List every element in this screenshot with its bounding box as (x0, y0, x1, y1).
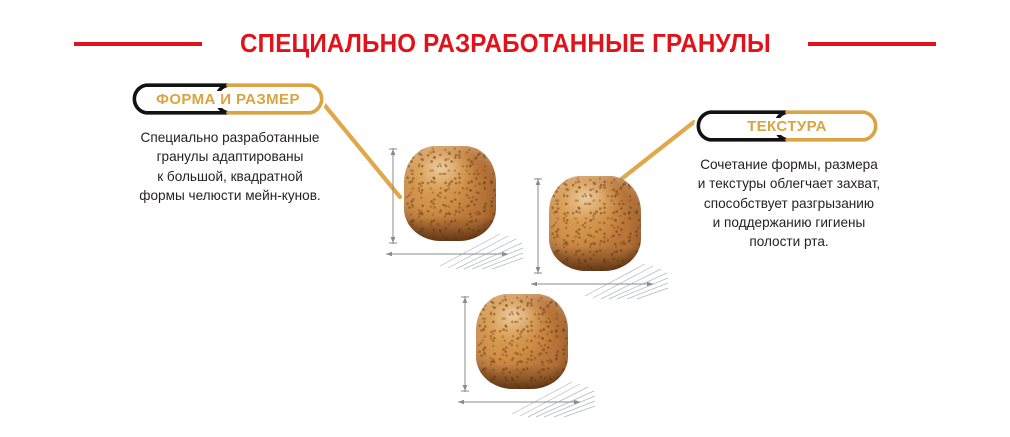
infographic-canvas: СПЕЦИАЛЬНО РАЗРАБОТАННЫЕ ГРАНУЛЫ ФОРМА И… (0, 0, 1010, 437)
kibble-texture-overlay-3 (476, 294, 568, 389)
page-title-row: СПЕЦИАЛЬНО РАЗРАБОТАННЫЕ ГРАНУЛЫ (0, 28, 1010, 59)
callout-badge-shape-size[interactable]: ФОРМА И РАЗМЕР (130, 83, 326, 115)
title-rule-left (74, 42, 202, 46)
callout-text-texture: Сочетание формы, размера и текстуры обле… (665, 155, 913, 251)
kibble-group-1 (380, 140, 530, 280)
callout-badge-label-texture: ТЕКСТУРА (740, 118, 834, 135)
page-title: СПЕЦИАЛЬНО РАЗРАБОТАННЫЕ ГРАНУЛЫ (240, 28, 771, 59)
kibble-texture-overlay-1 (404, 146, 496, 241)
callout-badge-texture[interactable]: ТЕКСТУРА (694, 110, 880, 142)
callout-text-shape-size: Специально разработанные гранулы адаптир… (108, 128, 352, 205)
callout-badge-label-shape-size: ФОРМА И РАЗМЕР (149, 91, 307, 108)
title-rule-right (808, 42, 936, 46)
kibble-photo-1 (404, 146, 496, 241)
kibble-group-3 (452, 288, 602, 428)
kibble-photo-2 (549, 176, 641, 271)
kibble-photo-3 (476, 294, 568, 389)
kibble-texture-overlay-2 (549, 176, 641, 271)
